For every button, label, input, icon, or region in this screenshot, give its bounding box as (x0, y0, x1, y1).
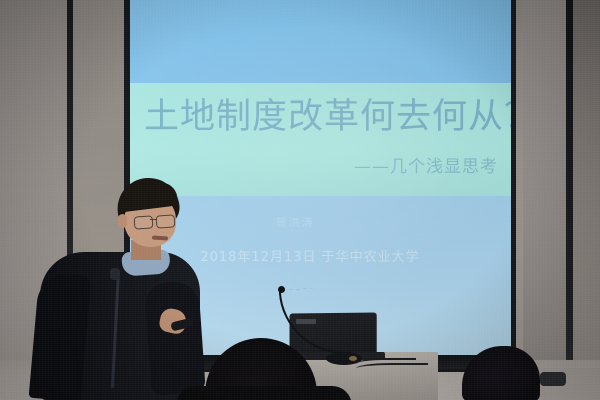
audience-shoulders (176, 386, 352, 400)
jacket-zipper-pull (110, 268, 120, 280)
presenter-ear (118, 214, 127, 228)
wall-seam-right (566, 0, 573, 388)
presenter-left-arm (29, 272, 92, 400)
eyeglasses-left-lens (134, 215, 154, 229)
presenter (30, 178, 205, 400)
eyeglasses-right-lens (156, 214, 176, 228)
eyeglasses-bridge (150, 219, 157, 220)
microphone-base-highlight (349, 356, 357, 361)
slide-band-top (130, 0, 511, 83)
cable-lower (356, 363, 428, 374)
slide-subtitle: ——几个浅显思考 (130, 152, 498, 177)
presenter-right-arm (144, 280, 206, 395)
slide-title: 土地制度改革何去何从？ (144, 88, 504, 139)
wall-right-panel (573, 0, 600, 400)
lecture-photo: 土地制度改革何去何从？ ——几个浅显思考 曾洪涛 2018年12月13日 于华中… (0, 0, 600, 400)
microphone-capsule (278, 286, 285, 293)
wall-outlet (540, 372, 566, 386)
